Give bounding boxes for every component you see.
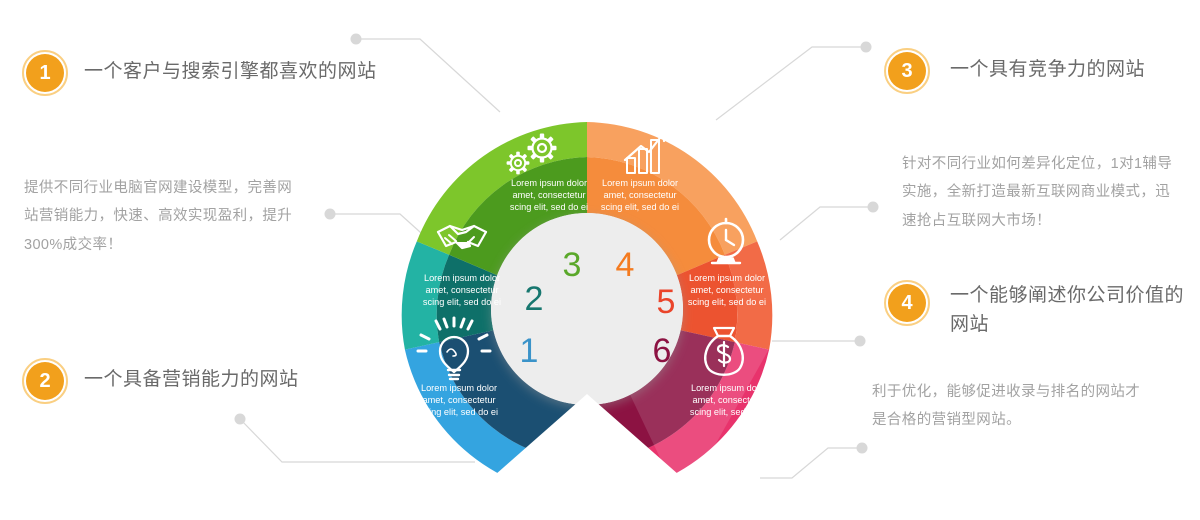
infographic-canvas: Lorem ipsum dolor amet, consectetur scin… <box>0 0 1200 520</box>
connector-dot-3-body <box>868 202 879 213</box>
connector-dot-3-title <box>861 42 872 53</box>
label-stopwatch-lines: Lorem ipsum dolor amet, consectetur scin… <box>688 273 766 307</box>
badge-2: 2 <box>22 358 68 404</box>
label-moneybag-lines: Lorem ipsum dolor amet, consectetur scin… <box>690 383 768 417</box>
label-barchart-lines: Lorem ipsum dolor amet, consectetur scin… <box>601 178 679 212</box>
badge-4: 4 <box>884 280 930 326</box>
badge-number-1: 1 <box>39 63 50 83</box>
badge-fill-3: 3 <box>888 52 926 90</box>
semi-donut-chart: Lorem ipsum dolor amet, consectetur scin… <box>382 104 792 504</box>
hub-number-2: 2 <box>525 280 544 318</box>
svg-text:scing elit, sed do ei: scing elit, sed do ei <box>688 297 766 307</box>
hub-number-5: 5 <box>657 283 676 321</box>
connector-dot-4-body <box>857 443 868 454</box>
badge-number-3: 3 <box>901 61 912 81</box>
svg-text:amet, consectetur: amet, consectetur <box>422 395 495 405</box>
svg-text:scing elit, sed do ei: scing elit, sed do ei <box>420 407 498 417</box>
svg-text:amet, consectetur: amet, consectetur <box>512 190 585 200</box>
badge-fill-2: 2 <box>26 362 64 400</box>
badge-number-4: 4 <box>901 293 912 313</box>
hub-number-3: 3 <box>563 246 582 284</box>
svg-text:amet, consectetur: amet, consectetur <box>690 285 763 295</box>
callout-body-1: 提供不同行业电脑官网建设模型，完善网站营销能力，快速、高效实现盈利，提升300%… <box>24 174 304 259</box>
connector-dot-1-title <box>351 34 362 45</box>
badge-3: 3 <box>884 48 930 94</box>
badge-fill-1: 1 <box>26 54 64 92</box>
svg-text:scing elit, sed do ei: scing elit, sed do ei <box>423 297 501 307</box>
connector-dot-2-title <box>235 414 246 425</box>
badge-1: 1 <box>22 50 68 96</box>
svg-text:Lorem ipsum dolor: Lorem ipsum dolor <box>511 178 587 188</box>
hub-number-6: 6 <box>653 332 672 370</box>
svg-text:Lorem ipsum dolor: Lorem ipsum dolor <box>602 178 678 188</box>
hub-number-4: 4 <box>616 246 635 284</box>
donut-hub-face <box>491 213 683 405</box>
donut-svg: Lorem ipsum dolor amet, consectetur scin… <box>382 104 792 504</box>
svg-text:scing elit, sed do ei: scing elit, sed do ei <box>690 407 768 417</box>
callout-body-4: 利于优化，能够促进收录与排名的网站才是合格的营销型网站。 <box>872 378 1148 435</box>
connector-dot-4-title <box>855 336 866 347</box>
label-lightbulb-lines: Lorem ipsum dolor amet, consectetur scin… <box>420 383 498 417</box>
callout-title-1: 一个客户与搜索引擎都喜欢的网站 <box>84 58 414 87</box>
svg-text:amet, consectetur: amet, consectetur <box>425 285 498 295</box>
badge-number-2: 2 <box>39 371 50 391</box>
svg-text:scing elit, sed do ei: scing elit, sed do ei <box>510 202 588 212</box>
svg-text:Lorem ipsum dolor: Lorem ipsum dolor <box>424 273 500 283</box>
callout-title-4: 一个能够阐述你公司价值的网站 <box>950 282 1196 339</box>
svg-text:amet, consectetur: amet, consectetur <box>692 395 765 405</box>
callout-body-3: 针对不同行业如何差异化定位，1对1辅导实施，全新打造最新互联网商业模式，迅速抢占… <box>902 150 1182 235</box>
badge-fill-4: 4 <box>888 284 926 322</box>
svg-text:Lorem ipsum dolor: Lorem ipsum dolor <box>689 273 765 283</box>
svg-text:amet, consectetur: amet, consectetur <box>603 190 676 200</box>
svg-text:scing elit, sed do ei: scing elit, sed do ei <box>601 202 679 212</box>
callout-title-3: 一个具有竞争力的网站 <box>950 56 1200 85</box>
label-handshake-lines: Lorem ipsum dolor amet, consectetur scin… <box>423 273 501 307</box>
connector-dot-1-body <box>325 209 336 220</box>
hub-number-1: 1 <box>520 332 539 370</box>
svg-text:Lorem ipsum dolor: Lorem ipsum dolor <box>421 383 497 393</box>
svg-text:Lorem ipsum dolor: Lorem ipsum dolor <box>691 383 767 393</box>
connector-3-body <box>780 207 873 240</box>
callout-title-2: 一个具备营销能力的网站 <box>84 366 384 395</box>
label-gears-lines: Lorem ipsum dolor amet, consectetur scin… <box>510 178 588 212</box>
